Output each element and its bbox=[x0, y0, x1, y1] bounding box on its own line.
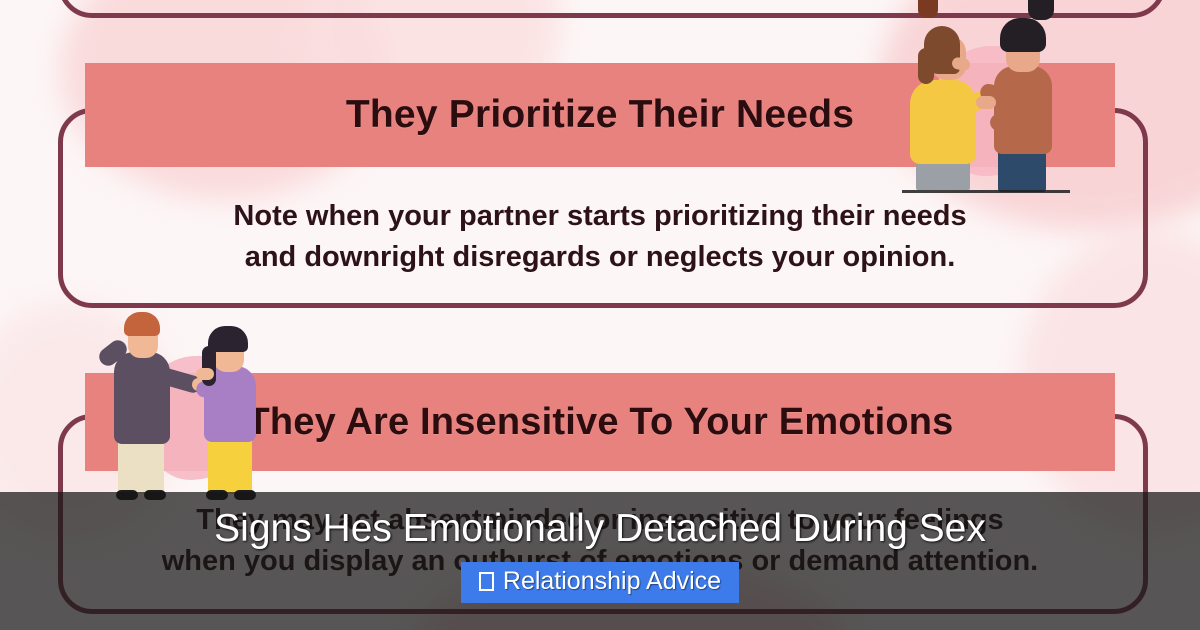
shoe-from-card-above bbox=[1028, 0, 1054, 20]
man-pants bbox=[118, 436, 164, 494]
caption-overlay: Signs Hes Emotionally Detached During Se… bbox=[0, 492, 1200, 630]
woman-ponytail bbox=[918, 48, 934, 84]
woman-hair-strand bbox=[202, 346, 216, 386]
missing-glyph-box-icon bbox=[479, 572, 494, 591]
card-one-heading: They Prioritize Their Needs bbox=[346, 93, 854, 137]
man-hand bbox=[976, 96, 996, 109]
card-one-body: Note when your partner starts prioritizi… bbox=[100, 196, 1100, 278]
overlay-badge-container: Relationship Advice bbox=[0, 562, 1200, 603]
man-sweater bbox=[114, 352, 170, 444]
man-sweater bbox=[994, 66, 1052, 154]
woman-hand bbox=[196, 368, 214, 380]
man-hair bbox=[1000, 18, 1046, 52]
ground-line bbox=[902, 190, 1070, 193]
couple-arguing-right-illustration bbox=[880, 4, 1090, 194]
shoe-from-card-above bbox=[918, 0, 938, 18]
infographic-canvas: They Prioritize Their Needs Note when yo… bbox=[0, 0, 1200, 630]
category-badge[interactable]: Relationship Advice bbox=[461, 562, 739, 603]
card-two-heading: They Are Insensitive To Your Emotions bbox=[246, 401, 953, 444]
overlay-title: Signs Hes Emotionally Detached During Se… bbox=[0, 507, 1200, 551]
card-one-body-line-2: and downright disregards or neglects you… bbox=[100, 237, 1100, 278]
category-badge-label: Relationship Advice bbox=[503, 567, 721, 595]
man-hair bbox=[124, 312, 160, 336]
woman-top bbox=[910, 80, 976, 164]
couple-arguing-left-illustration bbox=[96, 308, 296, 500]
card-one-body-line-1: Note when your partner starts prioritizi… bbox=[100, 196, 1100, 237]
